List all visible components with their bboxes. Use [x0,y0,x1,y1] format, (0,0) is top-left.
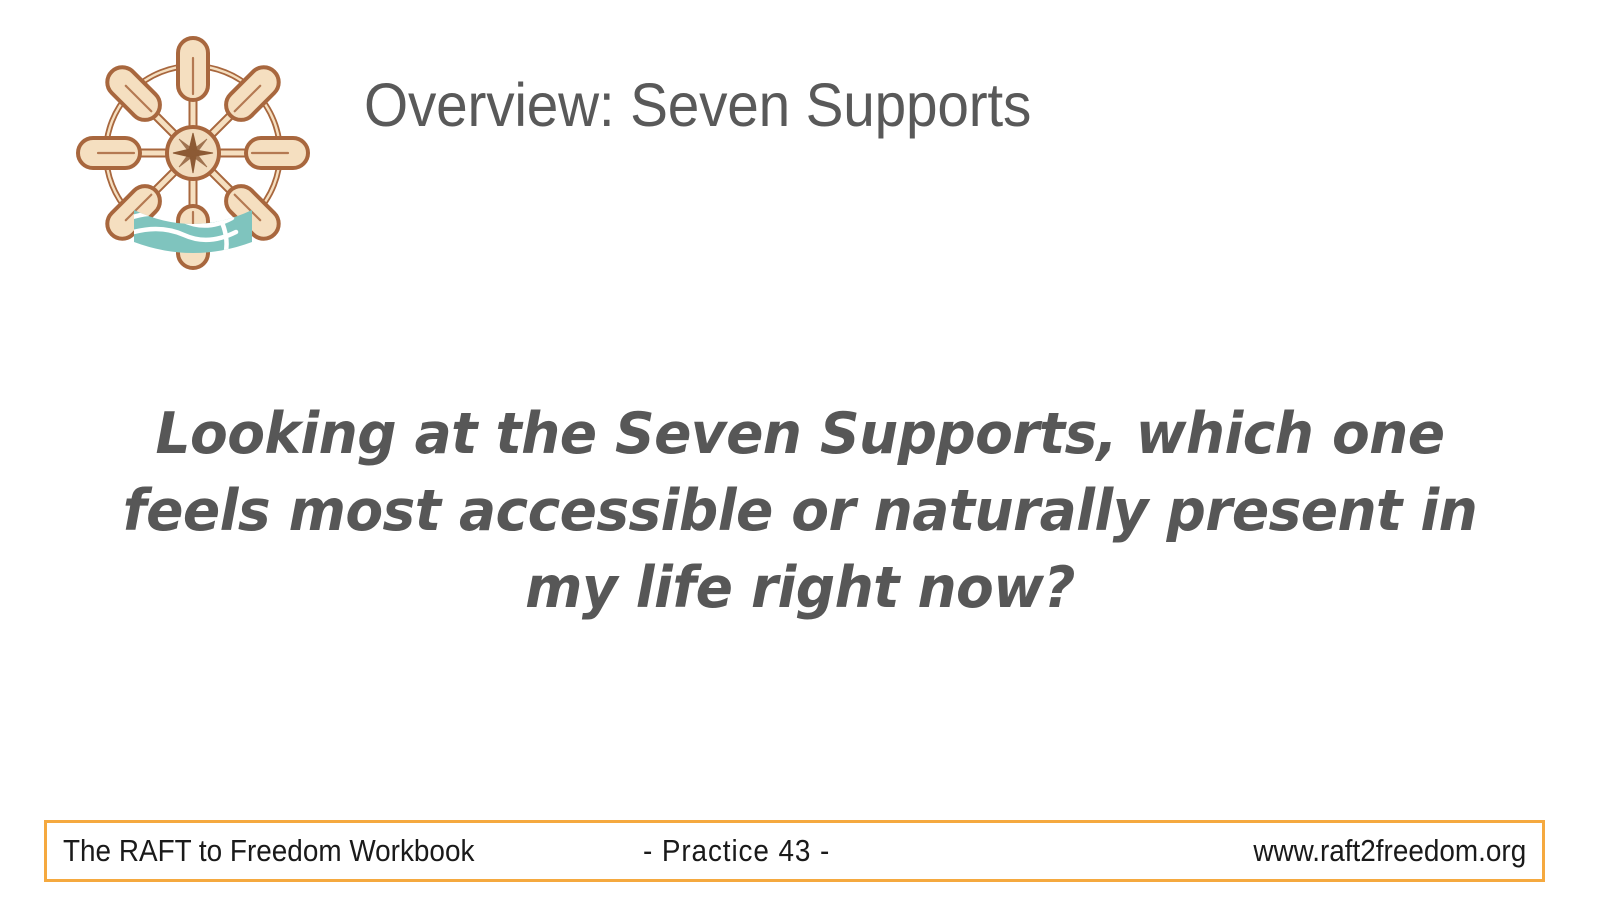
slide-canvas: Overview: Seven Supports Looking at the … [0,0,1600,900]
ships-wheel-logo [72,32,314,274]
footer-workbook-title: The RAFT to Freedom Workbook [63,833,474,869]
footer-website-url: www.raft2freedom.org [1253,833,1526,869]
compass-rose-icon [173,133,213,173]
page-title: Overview: Seven Supports [364,70,1031,140]
ships-wheel-icon [72,32,314,274]
reflection-question-text: Looking at the Seven Supports, which one… [86,396,1514,627]
footer-practice-number: - Practice 43 - [643,833,830,869]
footer-bar: The RAFT to Freedom Workbook - Practice … [44,820,1545,882]
